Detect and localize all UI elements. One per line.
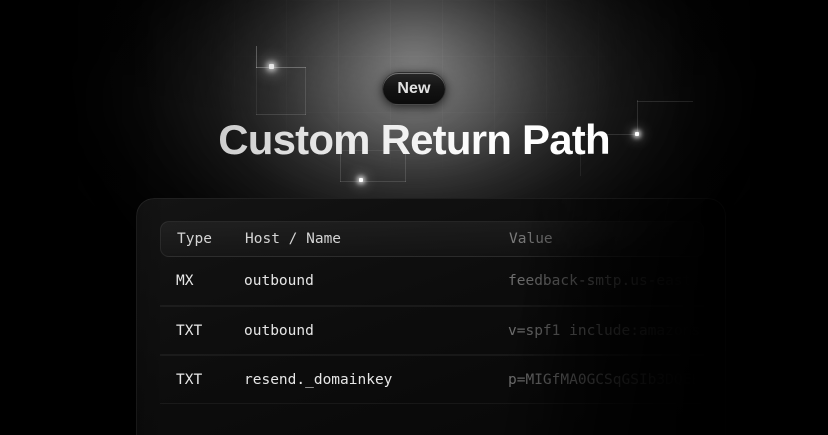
column-header-type: Type [161, 231, 245, 247]
cell-type: TXT [160, 323, 244, 339]
cell-value: v=spf1 include:amazonses.com ~all [508, 323, 704, 339]
table-row[interactable]: MX outbound feedback-smtp.us-east-1.amaz… [160, 257, 704, 306]
cell-host: resend._domainkey [244, 372, 508, 388]
table-header-row: Type Host / Name Value [160, 221, 704, 257]
new-badge: New [382, 72, 446, 105]
cell-value: feedback-smtp.us-east-1.amazonses.com [508, 273, 704, 289]
cell-type: MX [160, 273, 244, 289]
cell-value: p=MIGfMA0GCSqGSIb3DQEBAQUAA4GNADCBiQKBgQ [508, 372, 704, 388]
dns-records-table: Type Host / Name Value MX outbound feedb… [160, 221, 704, 404]
new-badge-label: New [397, 81, 430, 97]
dns-records-table-wrapper: Type Host / Name Value MX outbound feedb… [160, 221, 704, 404]
cell-type: TXT [160, 372, 244, 388]
cell-host: outbound [244, 273, 508, 289]
cell-host: outbound [244, 323, 508, 339]
table-row[interactable]: TXT resend._domainkey p=MIGfMA0GCSqGSIb3… [160, 355, 704, 404]
table-row[interactable]: TXT outbound v=spf1 include:amazonses.co… [160, 306, 704, 355]
dns-records-card: Type Host / Name Value MX outbound feedb… [136, 198, 726, 435]
column-header-host: Host / Name [245, 231, 509, 247]
page-title: Custom Return Path [0, 115, 828, 165]
column-header-value: Value [509, 231, 703, 247]
hero-banner: New Custom Return Path Type Host / Name … [0, 0, 828, 435]
